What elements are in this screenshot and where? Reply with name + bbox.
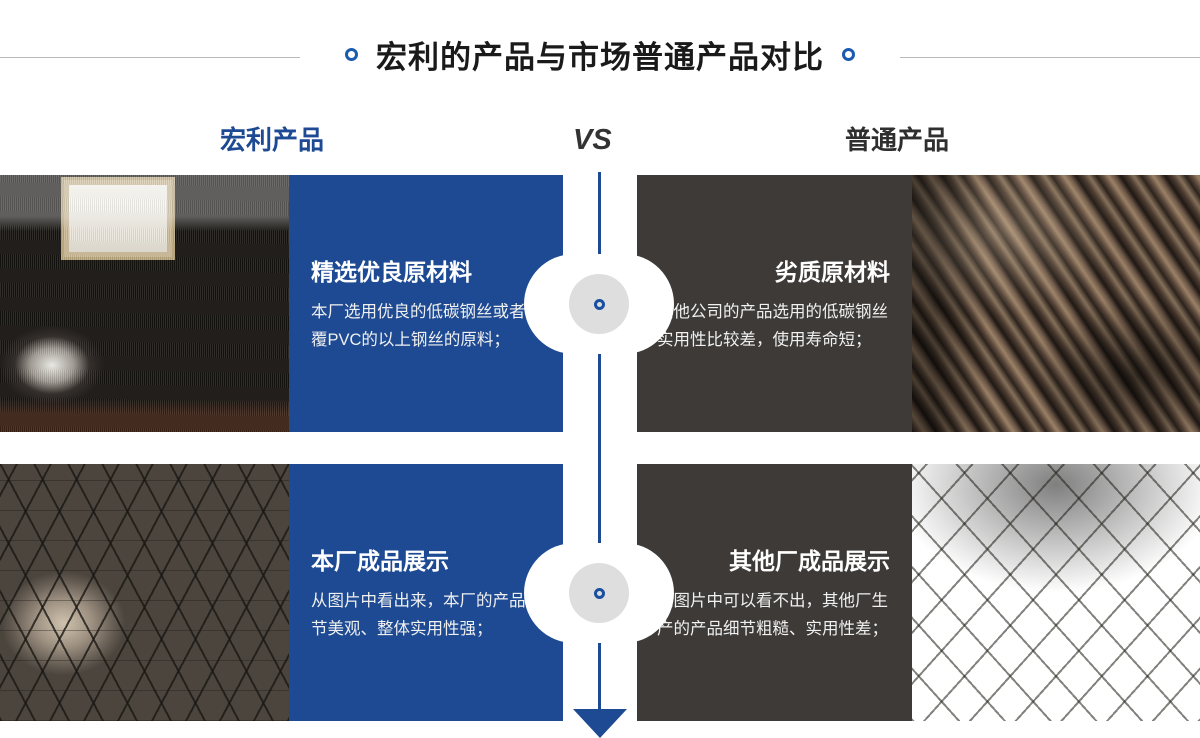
title-container: 宏利的产品与市场普通产品对比 [300,18,900,90]
ours-body-row2: 从图片中看出来，本厂的产品细节美观、整体实用性强； [311,587,543,644]
badge-inner-ring-icon [594,299,605,310]
gabion-mesh-stone-photo [0,464,289,721]
circle-ring-badge-icon [569,274,629,334]
title-band: 宏利的产品与市场普通产品对比 [0,0,1200,104]
page-title: 宏利的产品与市场普通产品对比 [376,32,824,77]
theirs-title-row2: 其他厂成品展示 [657,542,890,576]
theirs-body-row1: 其他公司的产品选用的低碳钢丝实用性比较差，使用寿命短； [657,298,890,355]
loose-stones-photo [912,464,1200,721]
column-header-vs: VS [573,115,612,165]
center-badge-row2 [524,543,674,643]
column-header-ours: 宏利产品 [220,115,324,165]
column-header-theirs: 普通产品 [845,115,949,165]
theirs-body-row2: 从图片中可以看不出，其他厂生产的产品细节粗糙、实用性差； [657,587,890,644]
comparison-infographic: 宏利的产品与市场普通产品对比 宏利产品 VS 普通产品 精选优良原材料 本厂选用… [0,0,1200,738]
theirs-title-row1: 劣质原材料 [657,253,890,287]
circle-ring-badge-icon [569,563,629,623]
ours-panel-row2: 本厂成品展示 从图片中看出来，本厂的产品细节美观、整体实用性强； [289,464,563,721]
theirs-panel-row2: 其他厂成品展示 从图片中可以看不出，其他厂生产的产品细节粗糙、实用性差； [637,464,912,721]
ours-panel-row1: 精选优良原材料 本厂选用优良的低碳钢丝或者包覆PVC的以上钢丝的原料； [289,175,563,432]
center-badge-row1 [524,254,674,354]
circle-ring-icon-left [345,48,358,61]
ours-title-row1: 精选优良原材料 [311,253,543,287]
theirs-panel-row1: 劣质原材料 其他公司的产品选用的低碳钢丝实用性比较差，使用寿命短； [637,175,912,432]
rusty-wire-coil-photo [912,175,1200,432]
steel-wire-coils-photo [0,175,289,432]
ours-title-row2: 本厂成品展示 [311,542,543,576]
triangle-down-icon [573,709,627,738]
badge-inner-ring-icon [594,588,605,599]
circle-ring-icon-right [842,48,855,61]
ours-body-row1: 本厂选用优良的低碳钢丝或者包覆PVC的以上钢丝的原料； [311,298,543,355]
